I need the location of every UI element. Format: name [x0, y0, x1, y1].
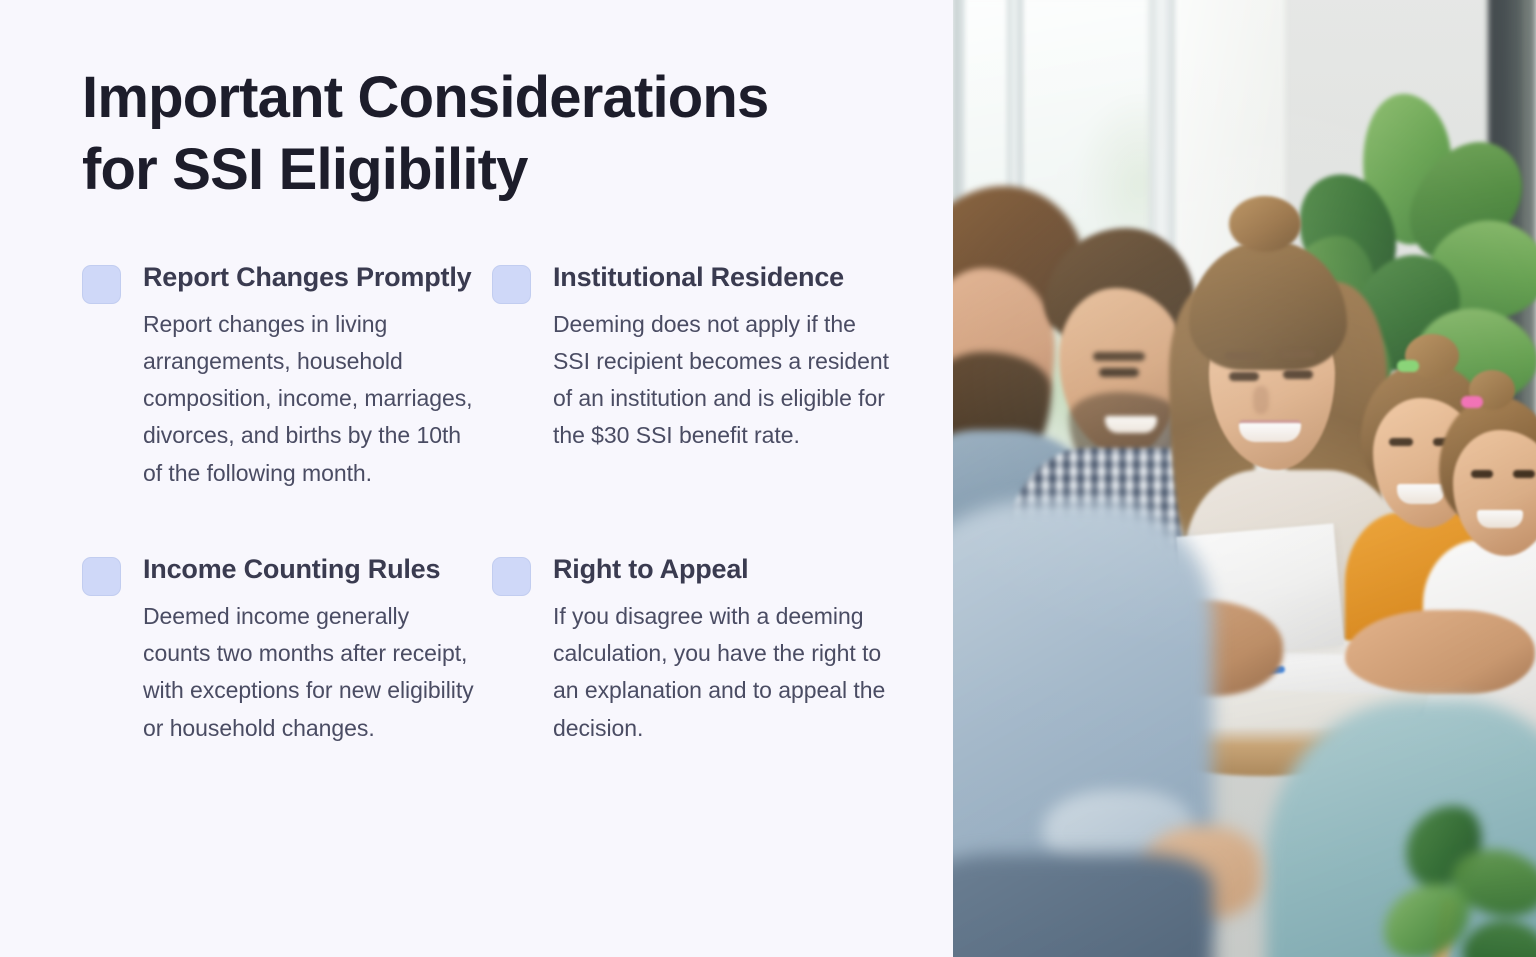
girl-white-hair-tie — [1461, 396, 1483, 408]
rounded-square-icon — [492, 265, 531, 304]
young-man-brow — [1093, 352, 1145, 361]
mother-eye-left — [1229, 372, 1259, 381]
feature-description: Report changes in living arrangements, h… — [143, 306, 482, 492]
feature-body: Right to Appeal If you disagree with a d… — [553, 552, 892, 747]
slide-root: Important Considerations for SSI Eligibi… — [0, 0, 1536, 957]
content-panel: Important Considerations for SSI Eligibi… — [0, 0, 953, 957]
page-title: Important Considerations for SSI Eligibi… — [82, 62, 872, 206]
mother-brow-left — [1225, 352, 1261, 360]
foreground-plant — [1372, 790, 1536, 957]
rounded-square-icon — [82, 265, 121, 304]
rounded-square-icon — [492, 557, 531, 596]
foreground-person-jeans — [953, 854, 1213, 957]
girl-white-eye-left — [1471, 470, 1493, 478]
young-man-smile — [1105, 416, 1157, 433]
feature-item: Institutional Residence Deeming does not… — [492, 260, 892, 492]
feature-description: If you disagree with a deeming calculati… — [553, 598, 892, 747]
mother-eye-right — [1283, 370, 1313, 379]
feature-grid: Report Changes Promptly Report changes i… — [82, 260, 883, 747]
mother-hair-bun — [1229, 196, 1301, 252]
feature-description: Deemed income generally counts two month… — [143, 598, 482, 747]
feature-title: Institutional Residence — [553, 260, 892, 296]
family-photo — [953, 0, 1536, 957]
girl-orange-hair-tie — [1397, 360, 1419, 372]
feature-item: Income Counting Rules Deemed income gene… — [82, 552, 482, 747]
girl-orange-smile — [1397, 484, 1445, 504]
feature-body: Report Changes Promptly Report changes i… — [143, 260, 482, 492]
mother-brow-right — [1279, 350, 1315, 358]
feature-item: Report Changes Promptly Report changes i… — [82, 260, 482, 492]
feature-item: Right to Appeal If you disagree with a d… — [492, 552, 892, 747]
feature-description: Deeming does not apply if the SSI recipi… — [553, 306, 892, 455]
rounded-square-icon — [82, 557, 121, 596]
feature-body: Institutional Residence Deeming does not… — [553, 260, 892, 455]
girl-white-smile — [1477, 510, 1523, 528]
girl-white-arm — [1345, 610, 1535, 694]
girl-orange-eye-left — [1389, 438, 1413, 446]
mother-smile — [1239, 420, 1301, 442]
mother-nose — [1253, 386, 1269, 414]
photo-illustration — [953, 0, 1536, 957]
young-man-eye — [1099, 368, 1139, 377]
feature-title: Income Counting Rules — [143, 552, 482, 588]
feature-title: Right to Appeal — [553, 552, 892, 588]
feature-title: Report Changes Promptly — [143, 260, 482, 296]
feature-body: Income Counting Rules Deemed income gene… — [143, 552, 482, 747]
girl-white-eye-right — [1513, 470, 1535, 478]
